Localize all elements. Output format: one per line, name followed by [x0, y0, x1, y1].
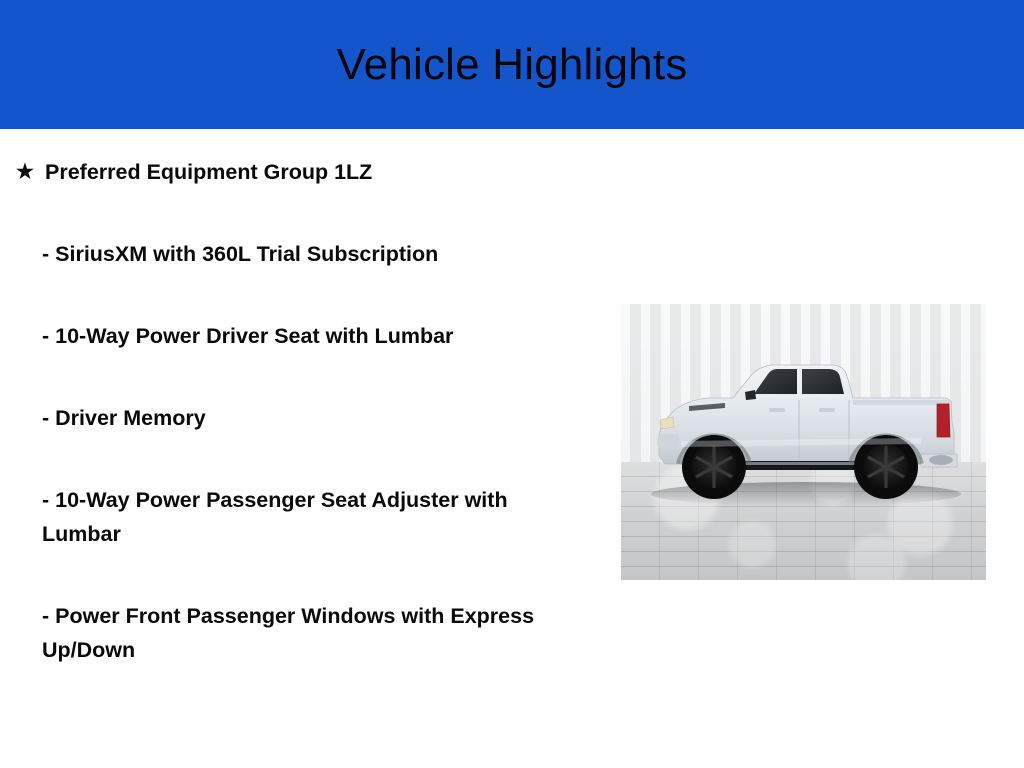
bed-rail — [853, 400, 951, 405]
star-icon: ★ — [16, 155, 34, 189]
headlight — [660, 417, 674, 429]
list-item-label: - Power Front Passenger Windows with Exp… — [42, 599, 562, 667]
rear-window — [802, 369, 844, 394]
list-item: - SiriusXM with 360L Trial Subscription — [0, 237, 562, 271]
list-item-label: - 10-Way Power Driver Seat with Lumbar — [42, 319, 562, 353]
list-item: ★ Preferred Equipment Group 1LZ — [0, 155, 600, 189]
list-item-label: Preferred Equipment Group 1LZ — [45, 160, 372, 184]
list-item-label: - 10-Way Power Passenger Seat Adjuster w… — [42, 483, 562, 551]
front-bumper — [657, 434, 679, 450]
list-item-label: - SiriusXM with 360L Trial Subscription — [42, 237, 562, 271]
vehicle-photo — [621, 304, 986, 580]
list-item: - Power Front Passenger Windows with Exp… — [0, 599, 562, 667]
taillight — [937, 404, 950, 437]
door-handle-front — [769, 408, 785, 412]
running-board-trim — [739, 462, 861, 465]
door-handle-rear — [819, 408, 835, 412]
list-item: - 10-Way Power Driver Seat with Lumbar — [0, 319, 562, 353]
vehicle-highlights-list: ★ Preferred Equipment Group 1LZ - Sirius… — [0, 129, 600, 667]
list-item: - 10-Way Power Passenger Seat Adjuster w… — [0, 483, 562, 551]
exhaust-tip — [929, 455, 953, 465]
list-item-label: - Driver Memory — [42, 401, 562, 435]
slide-body: ★ Preferred Equipment Group 1LZ - Sirius… — [0, 129, 1024, 768]
window-trim — [752, 395, 846, 398]
page-title: Vehicle Highlights — [0, 0, 1024, 129]
list-item: - Driver Memory — [0, 401, 562, 435]
pickup-truck-illustration — [621, 304, 986, 580]
slide-header-banner: Vehicle Highlights — [0, 0, 1024, 129]
